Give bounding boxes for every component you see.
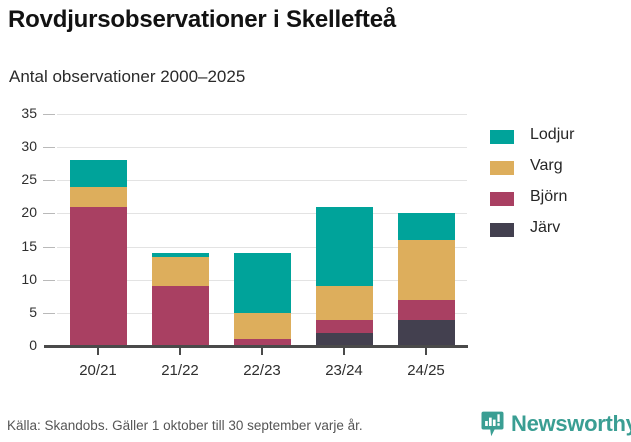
y-axis-tick-label: 15 (0, 238, 37, 254)
x-axis-tick-label: 20/21 (57, 362, 139, 379)
bar-segment[interactable] (234, 253, 291, 313)
bar-segment[interactable] (152, 286, 209, 346)
legend-color-swatch (490, 130, 514, 144)
legend-color-swatch (490, 223, 514, 237)
bar-segment[interactable] (398, 213, 455, 240)
bar-stack[interactable] (234, 114, 291, 346)
bar-segment[interactable] (70, 187, 127, 207)
y-axis-tick-mark (43, 313, 55, 314)
y-axis-tick-label: 10 (0, 271, 37, 287)
legend-color-swatch (490, 192, 514, 206)
y-axis-tick-label: 35 (0, 105, 37, 121)
bar-stack[interactable] (70, 114, 127, 346)
bar-stack[interactable] (316, 114, 373, 346)
bar-stack[interactable] (152, 114, 209, 346)
bar-segment[interactable] (316, 320, 373, 333)
x-axis-tick-label: 21/22 (139, 362, 221, 379)
y-axis-tick-mark (43, 147, 55, 148)
plot-area: 05101520253035 (57, 114, 467, 346)
bar-segment[interactable] (398, 320, 455, 347)
y-axis-tick-mark (43, 247, 55, 248)
legend-color-swatch (490, 161, 514, 175)
x-axis-line (44, 345, 468, 348)
newsworthy-logo[interactable]: Newsworthy (481, 411, 631, 437)
y-axis-tick-label: 30 (0, 138, 37, 154)
newsworthy-bar-chart-bubble-logo-icon (481, 411, 504, 437)
bar-segment[interactable] (398, 240, 455, 300)
x-axis-tick-mark (179, 348, 181, 355)
bar-segment[interactable] (316, 333, 373, 346)
legend-item-label: Varg (530, 157, 563, 175)
page-title: Rovdjursobservationer i Skellefteå (8, 6, 396, 34)
legend-item-label: Lodjur (530, 126, 574, 144)
bar-segment[interactable] (398, 300, 455, 320)
x-axis-tick-label: 22/23 (221, 362, 303, 379)
chart-page: Rovdjursobservationer i Skellefteå Antal… (0, 0, 631, 439)
y-axis-tick-mark (43, 180, 55, 181)
x-axis-tick-label: 24/25 (385, 362, 467, 379)
x-axis-tick-mark (97, 348, 99, 355)
bar-stack[interactable] (398, 114, 455, 346)
legend-item-label: Järv (530, 219, 560, 237)
bar-segment[interactable] (152, 253, 209, 256)
x-axis-tick-mark (425, 348, 427, 355)
y-axis-tick-label: 25 (0, 171, 37, 187)
bar-segment[interactable] (70, 207, 127, 346)
source-note: Källa: Skandobs. Gäller 1 oktober till 3… (7, 418, 363, 433)
y-axis-tick-mark (43, 213, 55, 214)
legend-item-label: Björn (530, 188, 567, 206)
y-axis-tick-label: 20 (0, 204, 37, 220)
y-axis-tick-label: 5 (0, 304, 37, 320)
brand-wordmark: Newsworthy (511, 413, 631, 435)
y-axis-tick-mark (43, 114, 55, 115)
bar-segment[interactable] (70, 160, 127, 187)
y-axis-tick-label: 0 (0, 337, 37, 353)
bar-segment[interactable] (152, 257, 209, 287)
y-axis-tick-mark (43, 280, 55, 281)
x-axis-tick-label: 23/24 (303, 362, 385, 379)
bar-segment[interactable] (316, 207, 373, 287)
chart-subtitle: Antal observationer 2000–2025 (9, 67, 245, 87)
x-axis-tick-mark (343, 348, 345, 355)
bar-segment[interactable] (234, 313, 291, 340)
x-axis-tick-mark (261, 348, 263, 355)
bar-segment[interactable] (316, 286, 373, 319)
